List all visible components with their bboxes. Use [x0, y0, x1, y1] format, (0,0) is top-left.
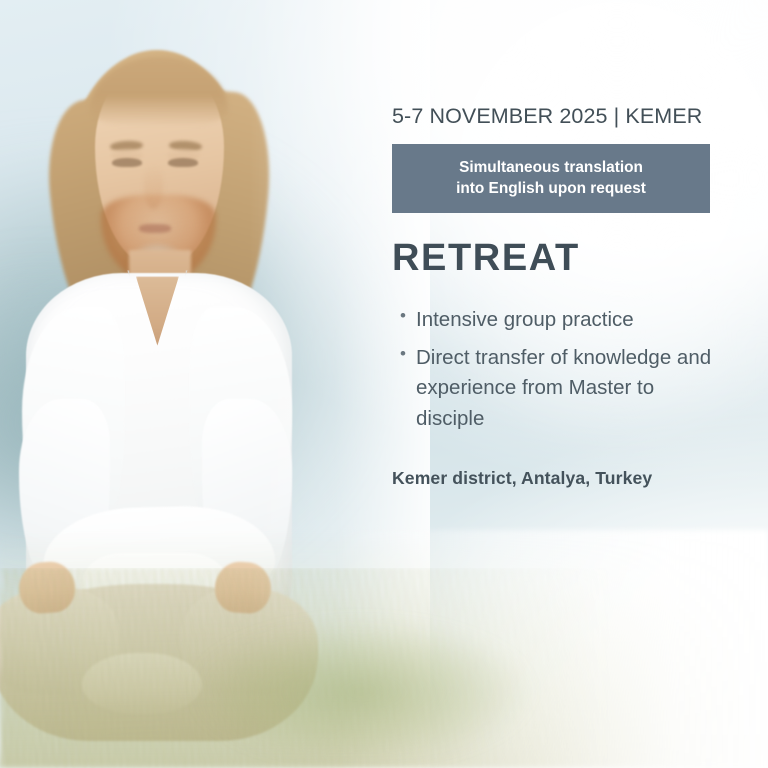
feature-list: Intensive group practice Direct transfer…: [392, 305, 722, 434]
translation-notice-line-2: into English upon request: [402, 178, 700, 199]
closed-eye-right: [168, 158, 198, 167]
translation-notice-banner: Simultaneous translation into English up…: [392, 144, 710, 214]
closed-eye-left: [112, 158, 142, 167]
grass-green-patch: [200, 599, 569, 753]
list-item: Intensive group practice: [392, 305, 722, 335]
retreat-poster: 5-7 NOVEMBER 2025 | KEMER Simultaneous t…: [0, 0, 768, 768]
poster-text-panel: 5-7 NOVEMBER 2025 | KEMER Simultaneous t…: [392, 104, 722, 489]
page-title: RETREAT: [392, 239, 722, 279]
mouth: [139, 224, 171, 232]
event-date-location: 5-7 NOVEMBER 2025 | KEMER: [392, 104, 722, 130]
venue-location: Kemer district, Antalya, Turkey: [392, 468, 722, 489]
list-item: Direct transfer of knowledge and experie…: [392, 343, 722, 433]
translation-notice-line-1: Simultaneous translation: [402, 157, 700, 178]
